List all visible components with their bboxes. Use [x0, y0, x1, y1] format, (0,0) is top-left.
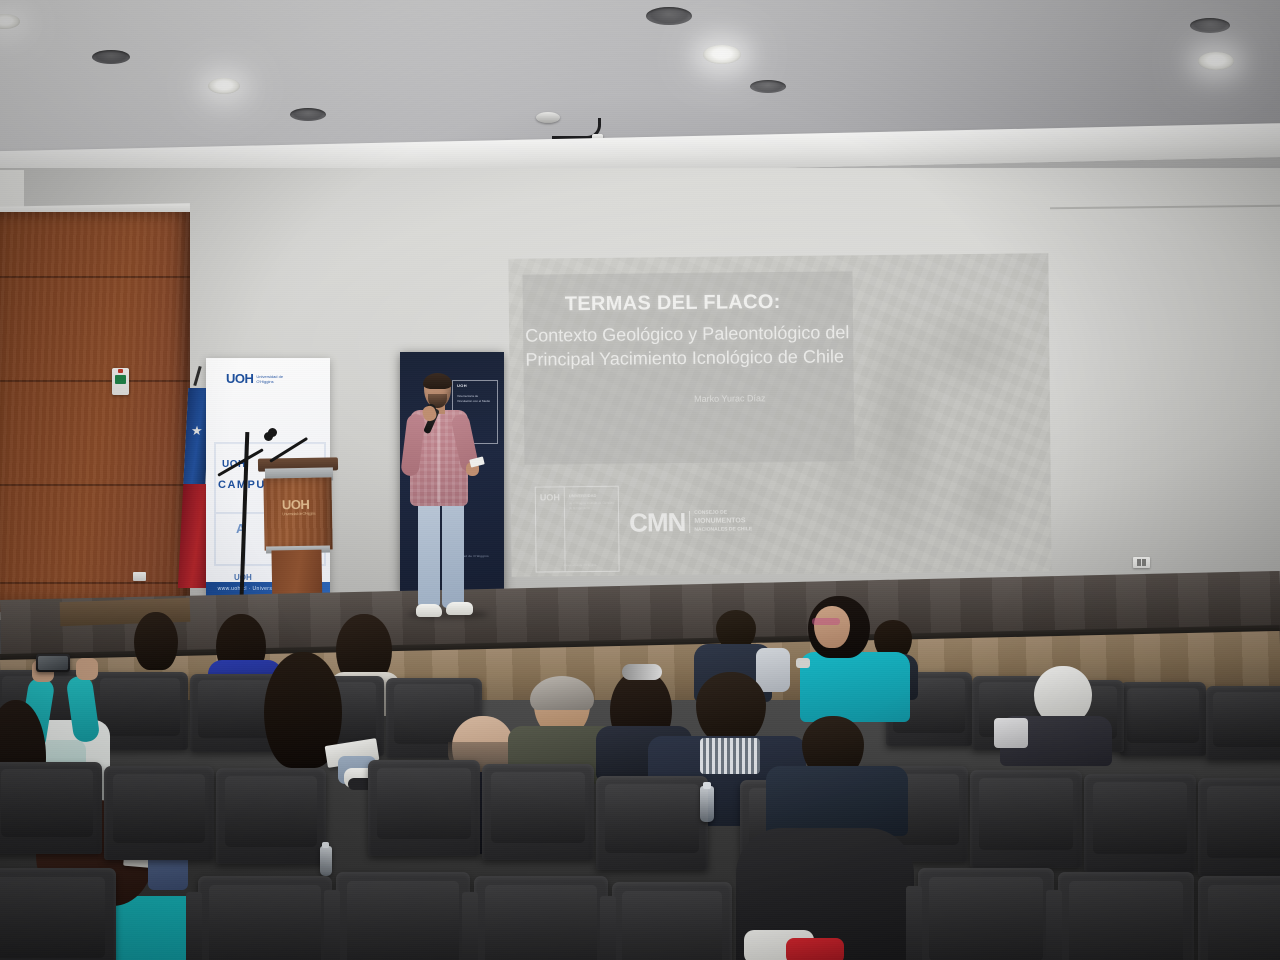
cmn-line-1: CONSEJO DE [694, 509, 727, 515]
wood-plank-seam [0, 484, 190, 486]
seat[interactable] [368, 760, 480, 856]
banner-logo-mark: UOH [226, 372, 253, 385]
emergency-exit-sign-icon [112, 368, 129, 395]
wood-wall-panel [0, 212, 190, 612]
ceiling-vent-icon [750, 80, 786, 93]
audience-hand [76, 658, 98, 680]
wood-plank-seam [0, 380, 190, 382]
seat[interactable] [1120, 682, 1206, 756]
ceiling-downlight-icon [208, 78, 240, 94]
eyeglasses-icon [812, 618, 840, 625]
audience-shoulder-red [786, 938, 844, 960]
seat-armrest [1046, 890, 1062, 960]
light-switch-icon[interactable] [1133, 557, 1150, 568]
cmn-logo-mark: CMN [629, 509, 685, 536]
seat-armrest [186, 892, 202, 960]
slide-logo-mark: UOH [540, 493, 560, 502]
slide-logo-footer: Universidad de O'Higgins [563, 564, 597, 567]
seat[interactable] [104, 766, 214, 860]
cmn-line-3: NACIONALES DE CHILE [694, 526, 752, 533]
speaker-leg-left [418, 500, 440, 608]
audience-wristwatch-icon [796, 658, 810, 668]
projection-screen: TERMAS DEL FLACO: Contexto Geológico y P… [508, 253, 1051, 577]
banner-logo: UOH Universidad de O'Higgins [226, 372, 296, 385]
audience-head-turned [814, 606, 850, 648]
seat[interactable] [216, 768, 326, 864]
podium-logo: UOH Universidad de O'Higgins [282, 498, 315, 517]
audience-torso [766, 766, 908, 836]
seat[interactable] [1058, 872, 1194, 960]
speaker-hair [423, 373, 452, 389]
slide-subtitle-line-2: Principal Yacimiento Icnológico de Chile [525, 344, 865, 372]
hair-clip-icon [622, 664, 662, 680]
cmn-logo-divider [689, 511, 690, 533]
seat[interactable] [596, 776, 708, 870]
ceiling-vent-icon [646, 7, 692, 25]
audience-torso-teal [800, 652, 910, 722]
water-bottle-icon[interactable] [320, 846, 332, 876]
seat[interactable] [198, 876, 332, 960]
auditorium-photo: ★ UOH Universidad de O'Higgins UOH CAMPU… [0, 0, 1280, 960]
seat-armrest [462, 892, 478, 960]
seat[interactable] [482, 764, 594, 860]
smartphone-icon[interactable] [36, 654, 70, 672]
ceiling-downlight-icon [1198, 52, 1234, 70]
slide-logo-description: de O'Higgins Instituto de Ciencias de la… [569, 501, 615, 510]
water-bottle-cap-icon [703, 782, 711, 789]
flag-star-icon: ★ [191, 424, 203, 437]
audience-collar [994, 718, 1028, 748]
slide-logo-right-column: UNIVERSIDAD de O'Higgins Instituto de Ci… [565, 487, 619, 572]
seat[interactable] [1084, 774, 1196, 872]
seat-armrest [324, 890, 340, 960]
speaker-shoe-left [416, 604, 442, 617]
podium-logo-subtitle: Universidad de O'Higgins [282, 512, 315, 517]
ceiling-vent-icon [92, 50, 130, 64]
dark-banner-title: UOH [457, 384, 467, 388]
audience-hair [134, 612, 178, 670]
speaker-shirt-placket [437, 414, 440, 502]
exit-sign-green-band [115, 375, 126, 384]
wall-outlet-icon[interactable] [133, 572, 146, 581]
speaker-shoe-right [446, 602, 473, 615]
seat[interactable] [474, 876, 608, 960]
cmn-logo-text: CONSEJO DE MONUMENTOS NACIONALES DE CHIL… [694, 509, 752, 534]
seat[interactable] [1206, 686, 1280, 760]
slide-logo-frame: UOH UNIVERSIDAD de O'Higgins Instituto d… [535, 486, 620, 573]
ceiling-downlight-icon [703, 45, 741, 64]
seat-armrest [600, 896, 616, 960]
slide-logo-name: UNIVERSIDAD [569, 493, 615, 499]
slide-title: TERMAS DEL FLACO: [565, 290, 865, 316]
seat[interactable] [0, 868, 116, 960]
audience-checked-collar [700, 738, 760, 774]
slide-logo-left-column: UOH [536, 487, 566, 571]
speaker-leg-right [442, 500, 464, 608]
wood-plank-seam [0, 276, 190, 278]
seat-armrest [906, 886, 922, 960]
exit-sign-red-band [118, 369, 123, 373]
ceiling-vent-icon [1190, 18, 1230, 33]
seat[interactable] [612, 882, 732, 960]
water-bottle-cap-icon [322, 842, 329, 848]
audience-shoulder [756, 648, 790, 692]
banner-logo-subtitle: Universidad de O'Higgins [256, 374, 296, 384]
seat[interactable] [918, 868, 1054, 960]
seat[interactable] [336, 872, 470, 960]
dark-banner-subtitle: Vicerrectoría de Vinculación con el Medi… [457, 394, 493, 403]
seat[interactable] [970, 770, 1082, 868]
audience-head [696, 672, 766, 744]
seat[interactable] [1198, 876, 1280, 960]
ceiling-vent-icon [290, 108, 326, 121]
cmn-line-2: MONUMENTOS [694, 517, 745, 525]
seat[interactable] [1198, 778, 1280, 876]
seat[interactable] [0, 762, 102, 854]
water-bottle-icon[interactable] [700, 786, 714, 822]
wood-plank-seam [0, 582, 190, 584]
cmn-logo: CMN CONSEJO DE MONUMENTOS NACIONALES DE … [629, 508, 752, 535]
microphone-head-icon [268, 428, 277, 437]
audience-hair-white [1034, 666, 1092, 722]
